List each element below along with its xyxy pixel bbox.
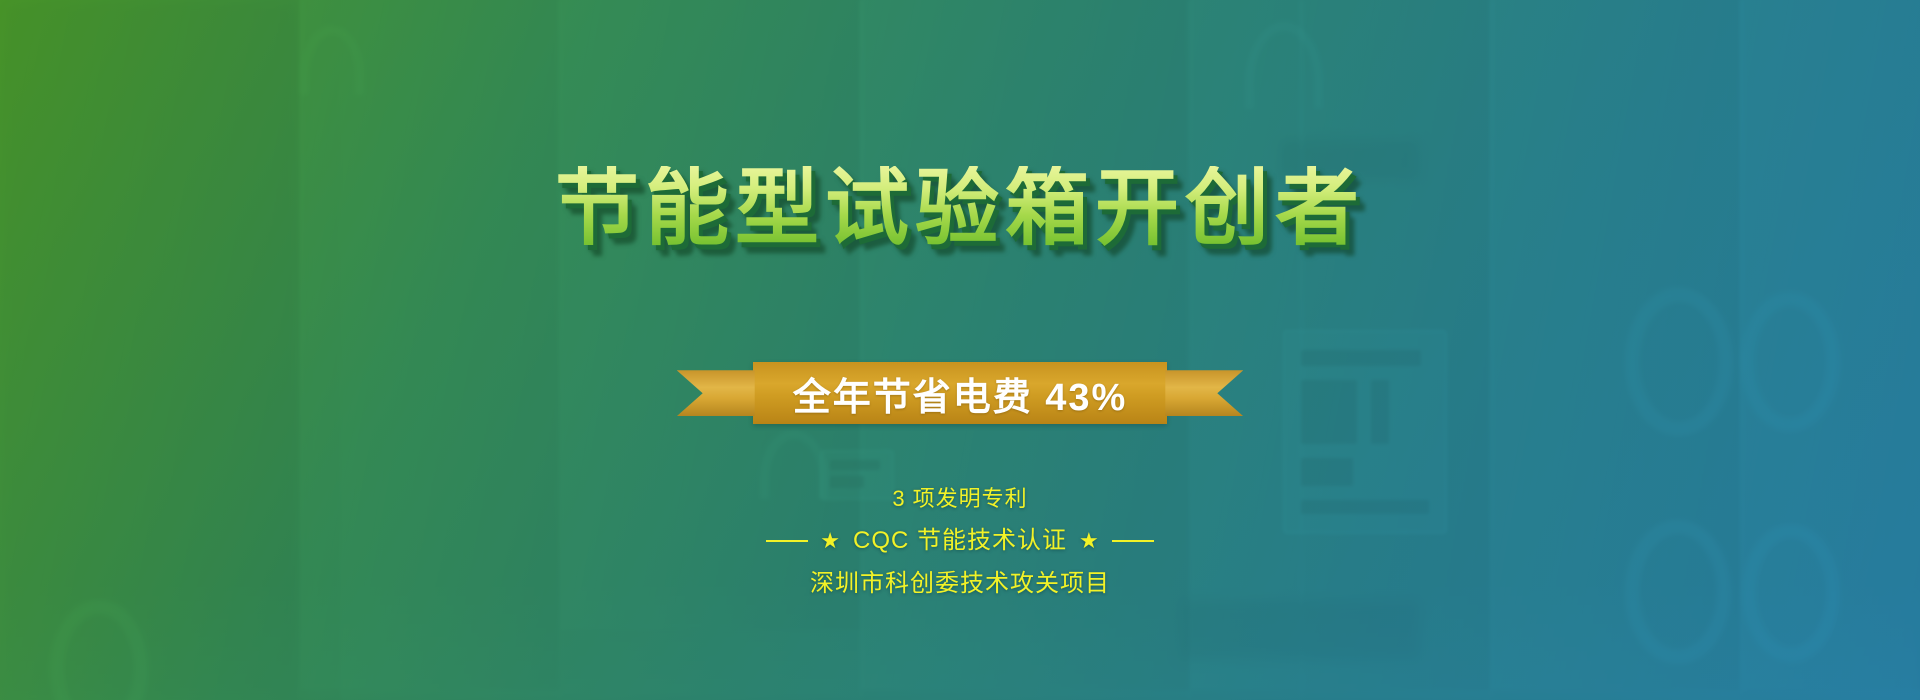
ribbon-body: 全年节省电费 43%	[753, 362, 1168, 424]
ribbon-tail-left-icon	[677, 370, 755, 416]
hero-banner: 节能型试验箱开创者 全年节省电费 43% 3 项发明专利 ★ CQC 节能技术认…	[0, 0, 1920, 700]
ribbon-tail-right-icon	[1165, 370, 1243, 416]
star-right-icon: ★	[1079, 530, 1100, 552]
credentials-block: 3 项发明专利 ★ CQC 节能技术认证 ★ 深圳市科创委技术攻关项目	[766, 488, 1153, 596]
ribbon-label: 全年节省电费 43%	[793, 366, 1128, 421]
star-left-icon: ★	[820, 530, 841, 552]
savings-ribbon: 全年节省电费 43%	[677, 362, 1244, 424]
credential-patents: 3 项发明专利	[892, 488, 1027, 510]
credential-cqc-label: CQC 节能技术认证	[853, 529, 1067, 553]
banner-content: 节能型试验箱开创者 全年节省电费 43% 3 项发明专利 ★ CQC 节能技术认…	[0, 0, 1920, 700]
headline-title: 节能型试验箱开创者	[555, 166, 1365, 250]
dash-rule-left-icon	[766, 540, 808, 542]
credential-project: 深圳市科创委技术攻关项目	[810, 572, 1110, 596]
dash-rule-right-icon	[1112, 540, 1154, 542]
credential-cqc-row: ★ CQC 节能技术认证 ★	[766, 529, 1153, 553]
